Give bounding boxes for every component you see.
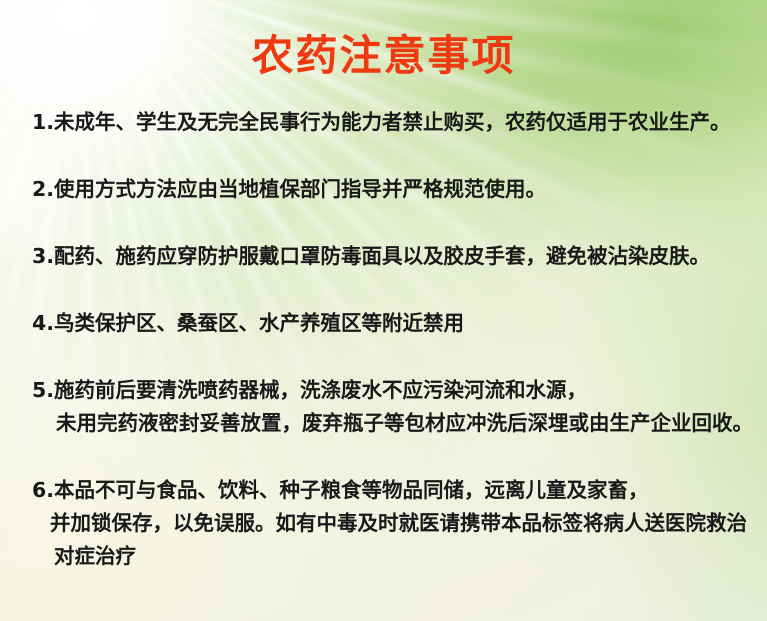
notes-list: 1.未成年、学生及无完全民事行为能力者禁止购买，农药仅适用于农业生产。 2.使用… (32, 106, 748, 573)
note-item: 2.使用方式方法应由当地植保部门指导并严格规范使用。 (32, 173, 748, 206)
note-line: 6.本品不可与食品、饮料、种子粮食等物品同储，远离儿童及家畜， (32, 474, 748, 507)
note-line-continuation: 并加锁保存，以免误服。如有中毒及时就医请携带本品标签将病人送医院救治 (32, 507, 748, 540)
note-line: 5.施药前后要清洗喷药器械，洗涤废水不应污染河流和水源， (32, 374, 748, 407)
note-item: 6.本品不可与食品、饮料、种子粮食等物品同储，远离儿童及家畜， 并加锁保存，以免… (32, 474, 748, 573)
note-line-continuation: 未用完药液密封妥善放置，废弃瓶子等包材应冲洗后深埋或由生产企业回收。 (32, 407, 748, 440)
poster-content: 农药注意事项 1.未成年、学生及无完全民事行为能力者禁止购买，农药仅适用于农业生… (0, 0, 767, 621)
poster-title: 农药注意事项 (0, 32, 767, 80)
note-item: 3.配药、施药应穿防护服戴口罩防毒面具以及胶皮手套，避免被沾染皮肤。 (32, 240, 748, 273)
poster-root: 农药注意事项 1.未成年、学生及无完全民事行为能力者禁止购买，农药仅适用于农业生… (0, 0, 767, 621)
note-line-continuation: 对症治疗 (32, 540, 748, 573)
note-line: 4.鸟类保护区、桑蚕区、水产养殖区等附近禁用 (32, 307, 748, 340)
note-item: 4.鸟类保护区、桑蚕区、水产养殖区等附近禁用 (32, 307, 748, 340)
note-line: 1.未成年、学生及无完全民事行为能力者禁止购买，农药仅适用于农业生产。 (32, 106, 748, 139)
note-item: 5.施药前后要清洗喷药器械，洗涤废水不应污染河流和水源， 未用完药液密封妥善放置… (32, 374, 748, 440)
note-line: 3.配药、施药应穿防护服戴口罩防毒面具以及胶皮手套，避免被沾染皮肤。 (32, 240, 748, 273)
note-item: 1.未成年、学生及无完全民事行为能力者禁止购买，农药仅适用于农业生产。 (32, 106, 748, 139)
note-line: 2.使用方式方法应由当地植保部门指导并严格规范使用。 (32, 173, 748, 206)
